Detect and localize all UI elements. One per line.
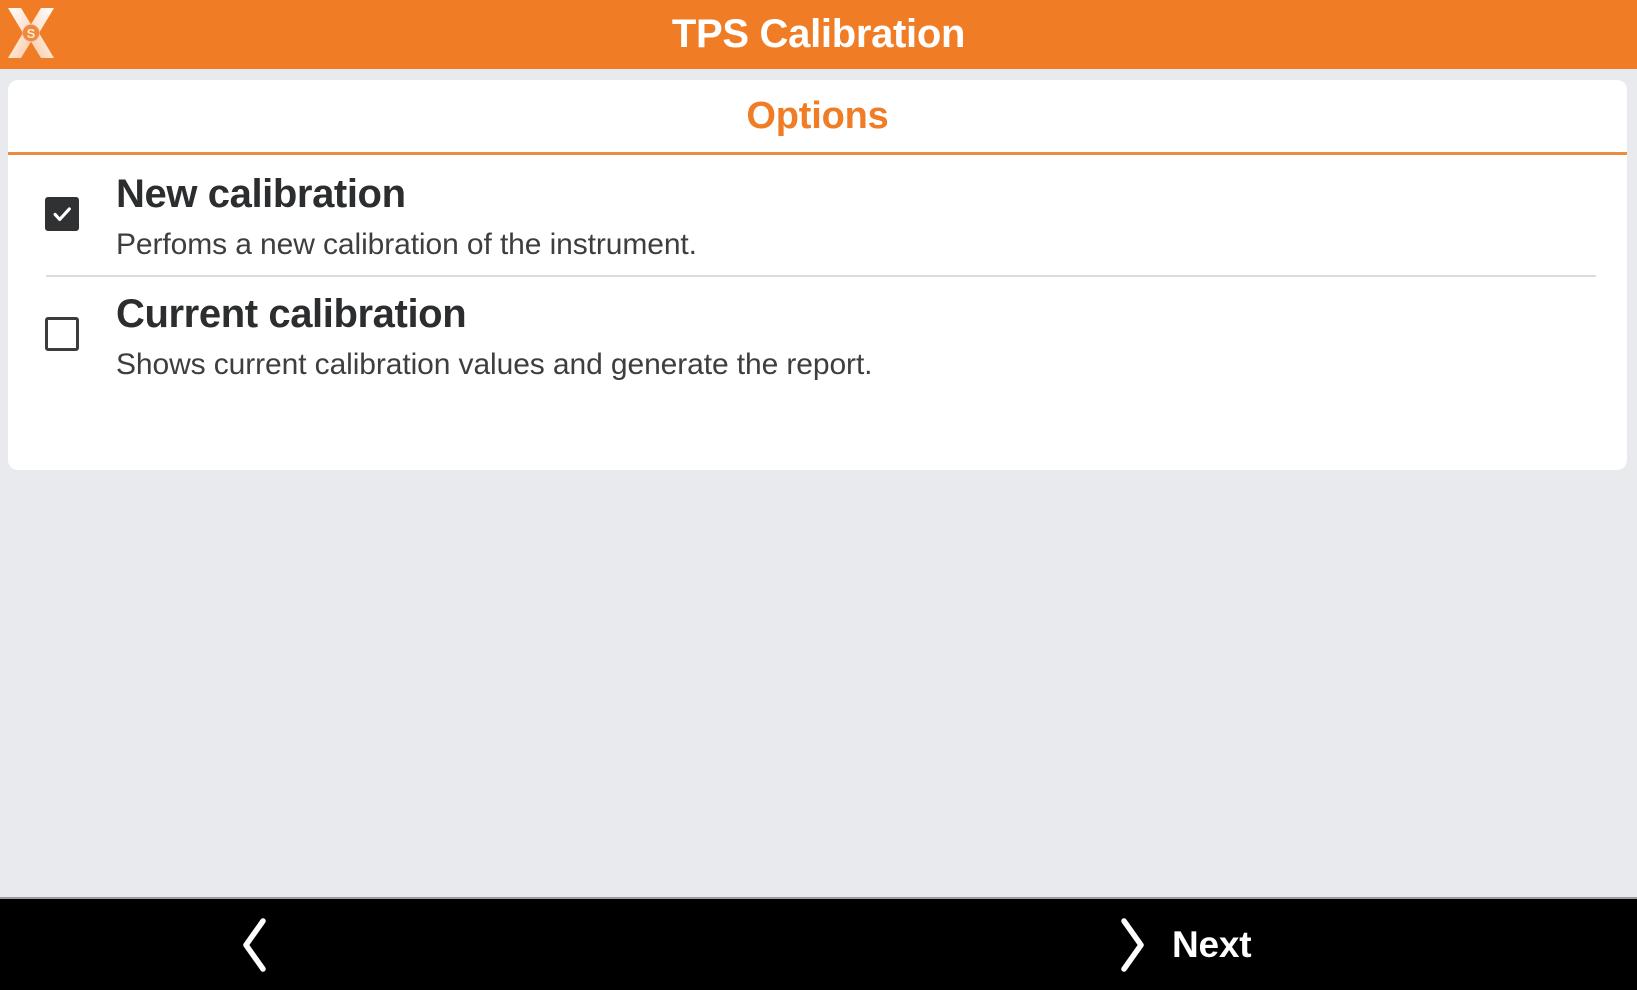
option-text-current-calibration: Current calibration Shows current calibr… (116, 289, 1627, 385)
options-card-header: Options (8, 80, 1627, 155)
options-list: New calibration Perfoms a new calibratio… (8, 155, 1627, 395)
option-title: New calibration (116, 169, 1607, 219)
svg-text:S: S (27, 26, 36, 41)
chevron-left-icon (235, 916, 275, 974)
option-description: Perfoms a new calibration of the instrum… (116, 225, 1607, 265)
next-button-label: Next (1172, 924, 1251, 966)
checkbox-cell-current-calibration (8, 289, 116, 351)
options-header-title: Options (746, 95, 888, 138)
checkbox-unchecked-icon[interactable] (45, 317, 79, 351)
chevron-right-icon (1112, 916, 1152, 974)
option-text-new-calibration: New calibration Perfoms a new calibratio… (116, 169, 1627, 265)
option-row-new-calibration[interactable]: New calibration Perfoms a new calibratio… (8, 155, 1627, 275)
option-row-current-calibration[interactable]: Current calibration Shows current calibr… (8, 275, 1627, 395)
back-button[interactable] (150, 899, 360, 990)
option-description: Shows current calibration values and gen… (116, 345, 1607, 385)
option-title: Current calibration (116, 289, 1607, 339)
app-title-bar: S TPS Calibration (0, 0, 1637, 69)
checkbox-cell-new-calibration (8, 169, 116, 231)
bottom-navigation-bar: Next (0, 897, 1637, 990)
checkbox-checked-icon[interactable] (45, 197, 79, 231)
page-title: TPS Calibration (0, 0, 1637, 69)
app-logo-icon: S (3, 2, 59, 64)
options-card: Options New calibration Perfoms a new ca… (8, 80, 1627, 470)
next-button[interactable]: Next (1040, 899, 1340, 990)
